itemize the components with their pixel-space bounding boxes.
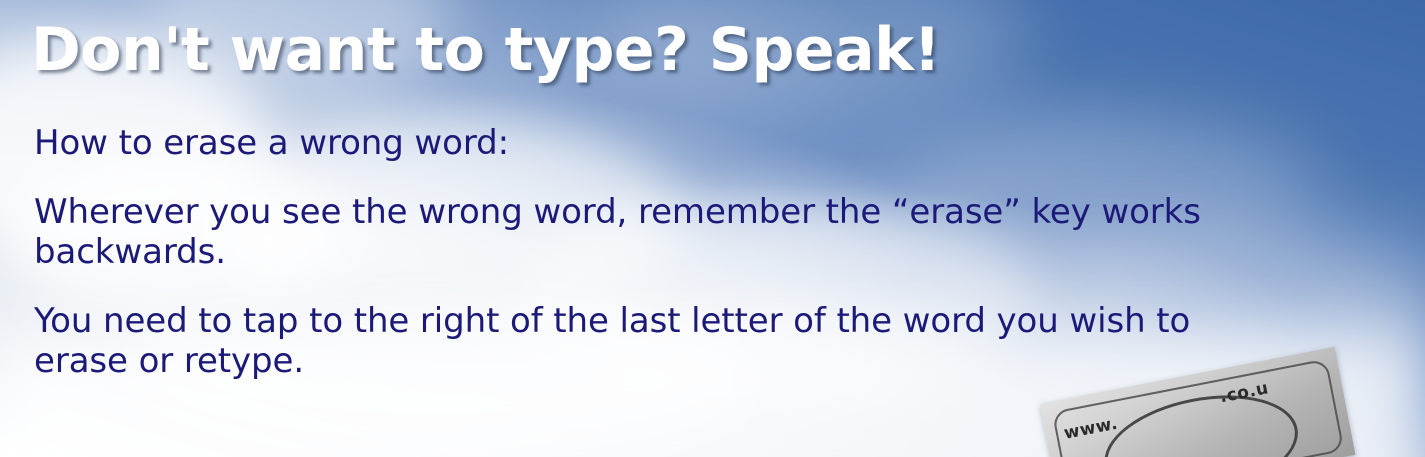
card-oval-logo	[1096, 380, 1307, 457]
slide-title: Don't want to type? Speak!	[31, 19, 940, 82]
body-paragraph-1: How to erase a wrong word:	[34, 124, 1224, 163]
card-url-suffix: .co.u	[1218, 378, 1270, 407]
slide-canvas: Don't want to type? Speak! How to erase …	[0, 0, 1425, 457]
card-url-prefix: www.	[1062, 414, 1119, 444]
body-paragraph-2: Wherever you see the wrong word, remembe…	[34, 193, 1224, 272]
slide-body: How to erase a wrong word: Wherever you …	[34, 124, 1224, 381]
body-paragraph-3: You need to tap to the right of the last…	[34, 302, 1224, 381]
